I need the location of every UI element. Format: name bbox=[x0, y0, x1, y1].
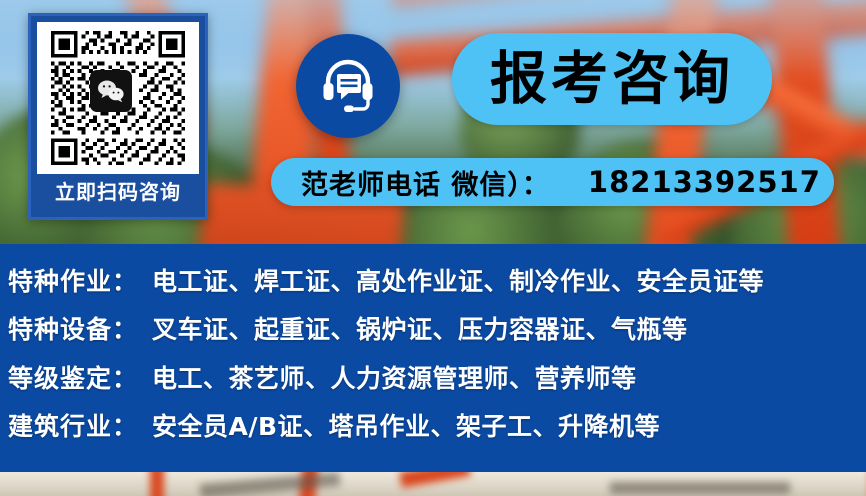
title-pill[interactable]: 报考咨询 bbox=[452, 33, 772, 125]
info-items: 电工、茶艺师、人力资源管理师、营养师等 bbox=[152, 364, 637, 393]
info-category: 特种作业： bbox=[8, 267, 138, 296]
title-text: 报考咨询 bbox=[490, 51, 734, 108]
info-category: 等级鉴定： bbox=[8, 364, 138, 393]
contact-phone-pill[interactable]: 范老师电话 微信）： 18213392517 bbox=[271, 158, 834, 206]
qr-code-image bbox=[37, 22, 199, 174]
info-category: 特种设备： bbox=[8, 315, 138, 344]
qr-code-card[interactable]: 立即扫码咨询 bbox=[28, 13, 208, 220]
footer-photo-strip bbox=[0, 472, 866, 496]
info-category: 建筑行业： bbox=[8, 412, 138, 441]
info-line: 特种作业：电工证、焊工证、高处作业证、制冷作业、安全员证等 bbox=[8, 262, 764, 298]
footer-photo-blur-layer bbox=[0, 472, 866, 496]
info-items: 电工证、焊工证、高处作业证、制冷作业、安全员证等 bbox=[152, 267, 764, 296]
info-line: 建筑行业：安全员A/B证、塔吊作业、架子工、升降机等 bbox=[8, 407, 660, 443]
info-items: 叉车证、起重证、锅炉证、压力容器证、气瓶等 bbox=[152, 315, 688, 344]
info-line: 等级鉴定：电工、茶艺师、人力资源管理师、营养师等 bbox=[8, 359, 637, 395]
certification-list-panel: 特种作业：电工证、焊工证、高处作业证、制冷作业、安全员证等 特种设备：叉车证、起… bbox=[0, 244, 866, 472]
info-line: 特种设备：叉车证、起重证、锅炉证、压力容器证、气瓶等 bbox=[8, 310, 688, 346]
contact-label: 范老师电话 微信）： bbox=[301, 163, 550, 202]
wechat-bubbles-glyph bbox=[97, 79, 125, 103]
wechat-logo-icon bbox=[90, 70, 132, 112]
contact-phone-number: 18213392517 bbox=[588, 165, 821, 199]
customer-support-badge[interactable] bbox=[296, 34, 400, 138]
headset-support-icon bbox=[317, 55, 379, 117]
info-items: 安全员A/B证、塔吊作业、架子工、升降机等 bbox=[152, 412, 660, 441]
qr-code-label: 立即扫码咨询 bbox=[31, 176, 205, 208]
promo-poster: 立即扫码咨询 报考咨询 范老师电话 微信）： 18213392517 特种作业：… bbox=[0, 0, 866, 496]
